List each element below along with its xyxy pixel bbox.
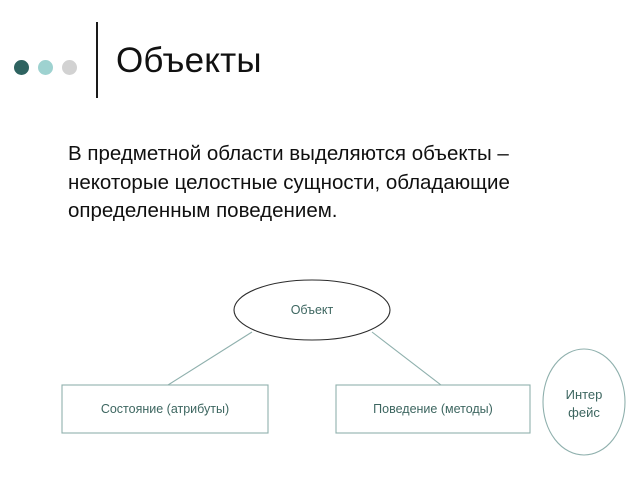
object-structure-diagram: Объект Состояние (атрибуты) Поведение (м… <box>0 262 640 480</box>
bullet-dot-teal-icon <box>38 60 53 75</box>
header-dot-group <box>14 60 77 75</box>
state-node-label: Состояние (атрибуты) <box>101 402 229 416</box>
title-divider-rule <box>96 22 98 98</box>
connector-object-to-state <box>168 332 252 385</box>
diagram-node-behavior[interactable]: Поведение (методы) <box>336 385 530 433</box>
diagram-node-interface[interactable]: Интер фейс <box>543 349 625 455</box>
page-title: Объекты <box>116 41 262 81</box>
body-paragraph: В предметной области выделяются объекты … <box>68 140 528 226</box>
bullet-dot-dark-icon <box>14 60 29 75</box>
object-node-label: Объект <box>291 303 334 317</box>
bullet-dot-gray-icon <box>62 60 77 75</box>
slide-canvas: Объекты В предметной области выделяются … <box>0 0 640 480</box>
diagram-node-state[interactable]: Состояние (атрибуты) <box>62 385 268 433</box>
diagram-node-object[interactable]: Объект <box>234 280 390 340</box>
connector-object-to-behavior <box>372 332 441 385</box>
interface-node-label-line1: Интер <box>566 387 603 402</box>
interface-ellipse-shape <box>543 349 625 455</box>
interface-node-label-line2: фейс <box>568 405 600 420</box>
behavior-node-label: Поведение (методы) <box>373 402 493 416</box>
slide-header: Объекты <box>0 0 640 110</box>
